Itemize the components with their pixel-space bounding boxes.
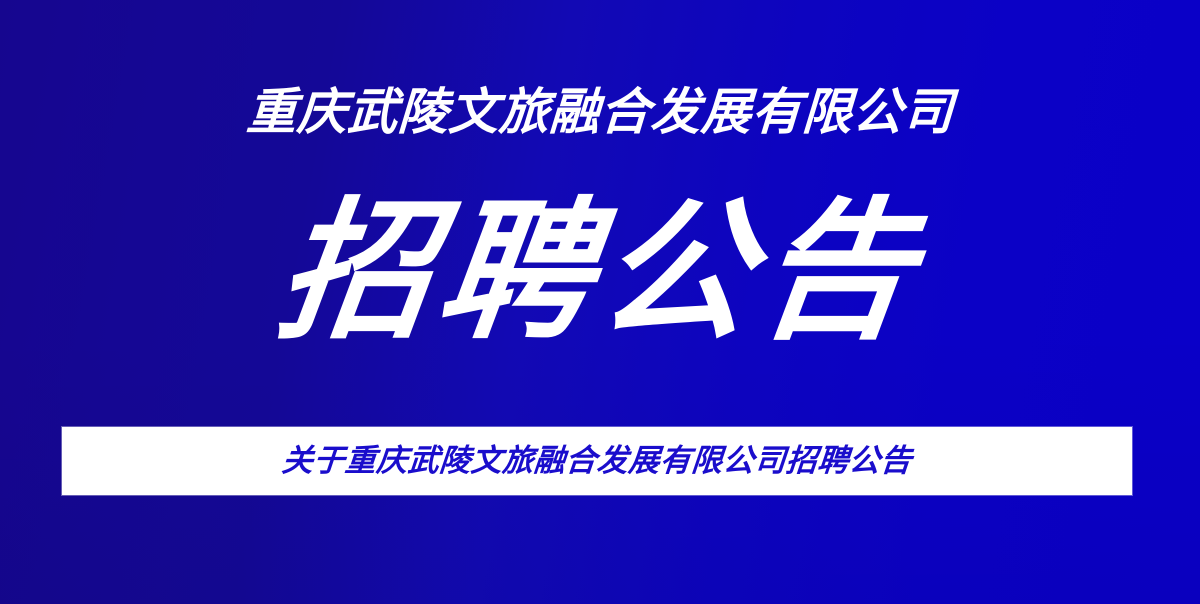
recruitment-poster: 重庆武陵文旅融合发展有限公司 招聘公告 关于重庆武陵文旅融合发展有限公司招聘公告 — [0, 0, 1200, 604]
company-name: 重庆武陵文旅融合发展有限公司 — [0, 82, 1200, 142]
announcement-banner: 关于重庆武陵文旅融合发展有限公司招聘公告 — [62, 427, 1132, 495]
announcement-banner-text: 关于重庆武陵文旅融合发展有限公司招聘公告 — [280, 442, 913, 480]
page-title: 招聘公告 — [0, 188, 1200, 356]
